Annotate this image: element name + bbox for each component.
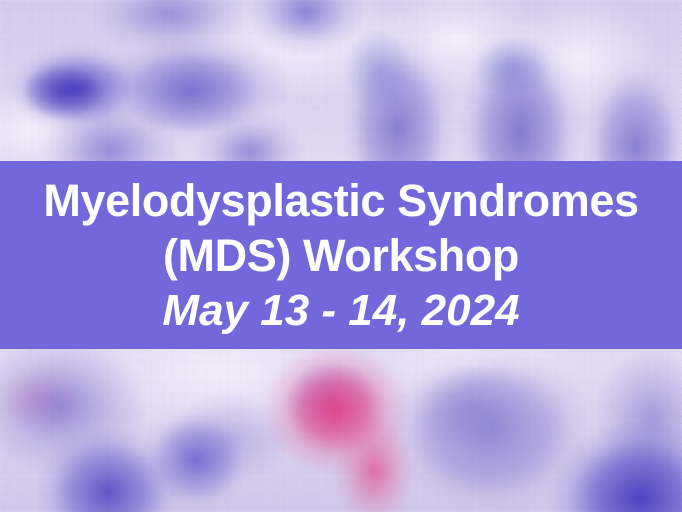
mds-workshop-promo-card: Myelodysplastic Syndromes (MDS) Workshop… [0, 0, 682, 512]
title-banner: Myelodysplastic Syndromes (MDS) Workshop… [0, 161, 682, 349]
workshop-title-line-1: Myelodysplastic Syndromes [43, 173, 638, 228]
workshop-dates: May 13 - 14, 2024 [162, 283, 519, 338]
workshop-title-line-2: (MDS) Workshop [163, 228, 519, 283]
